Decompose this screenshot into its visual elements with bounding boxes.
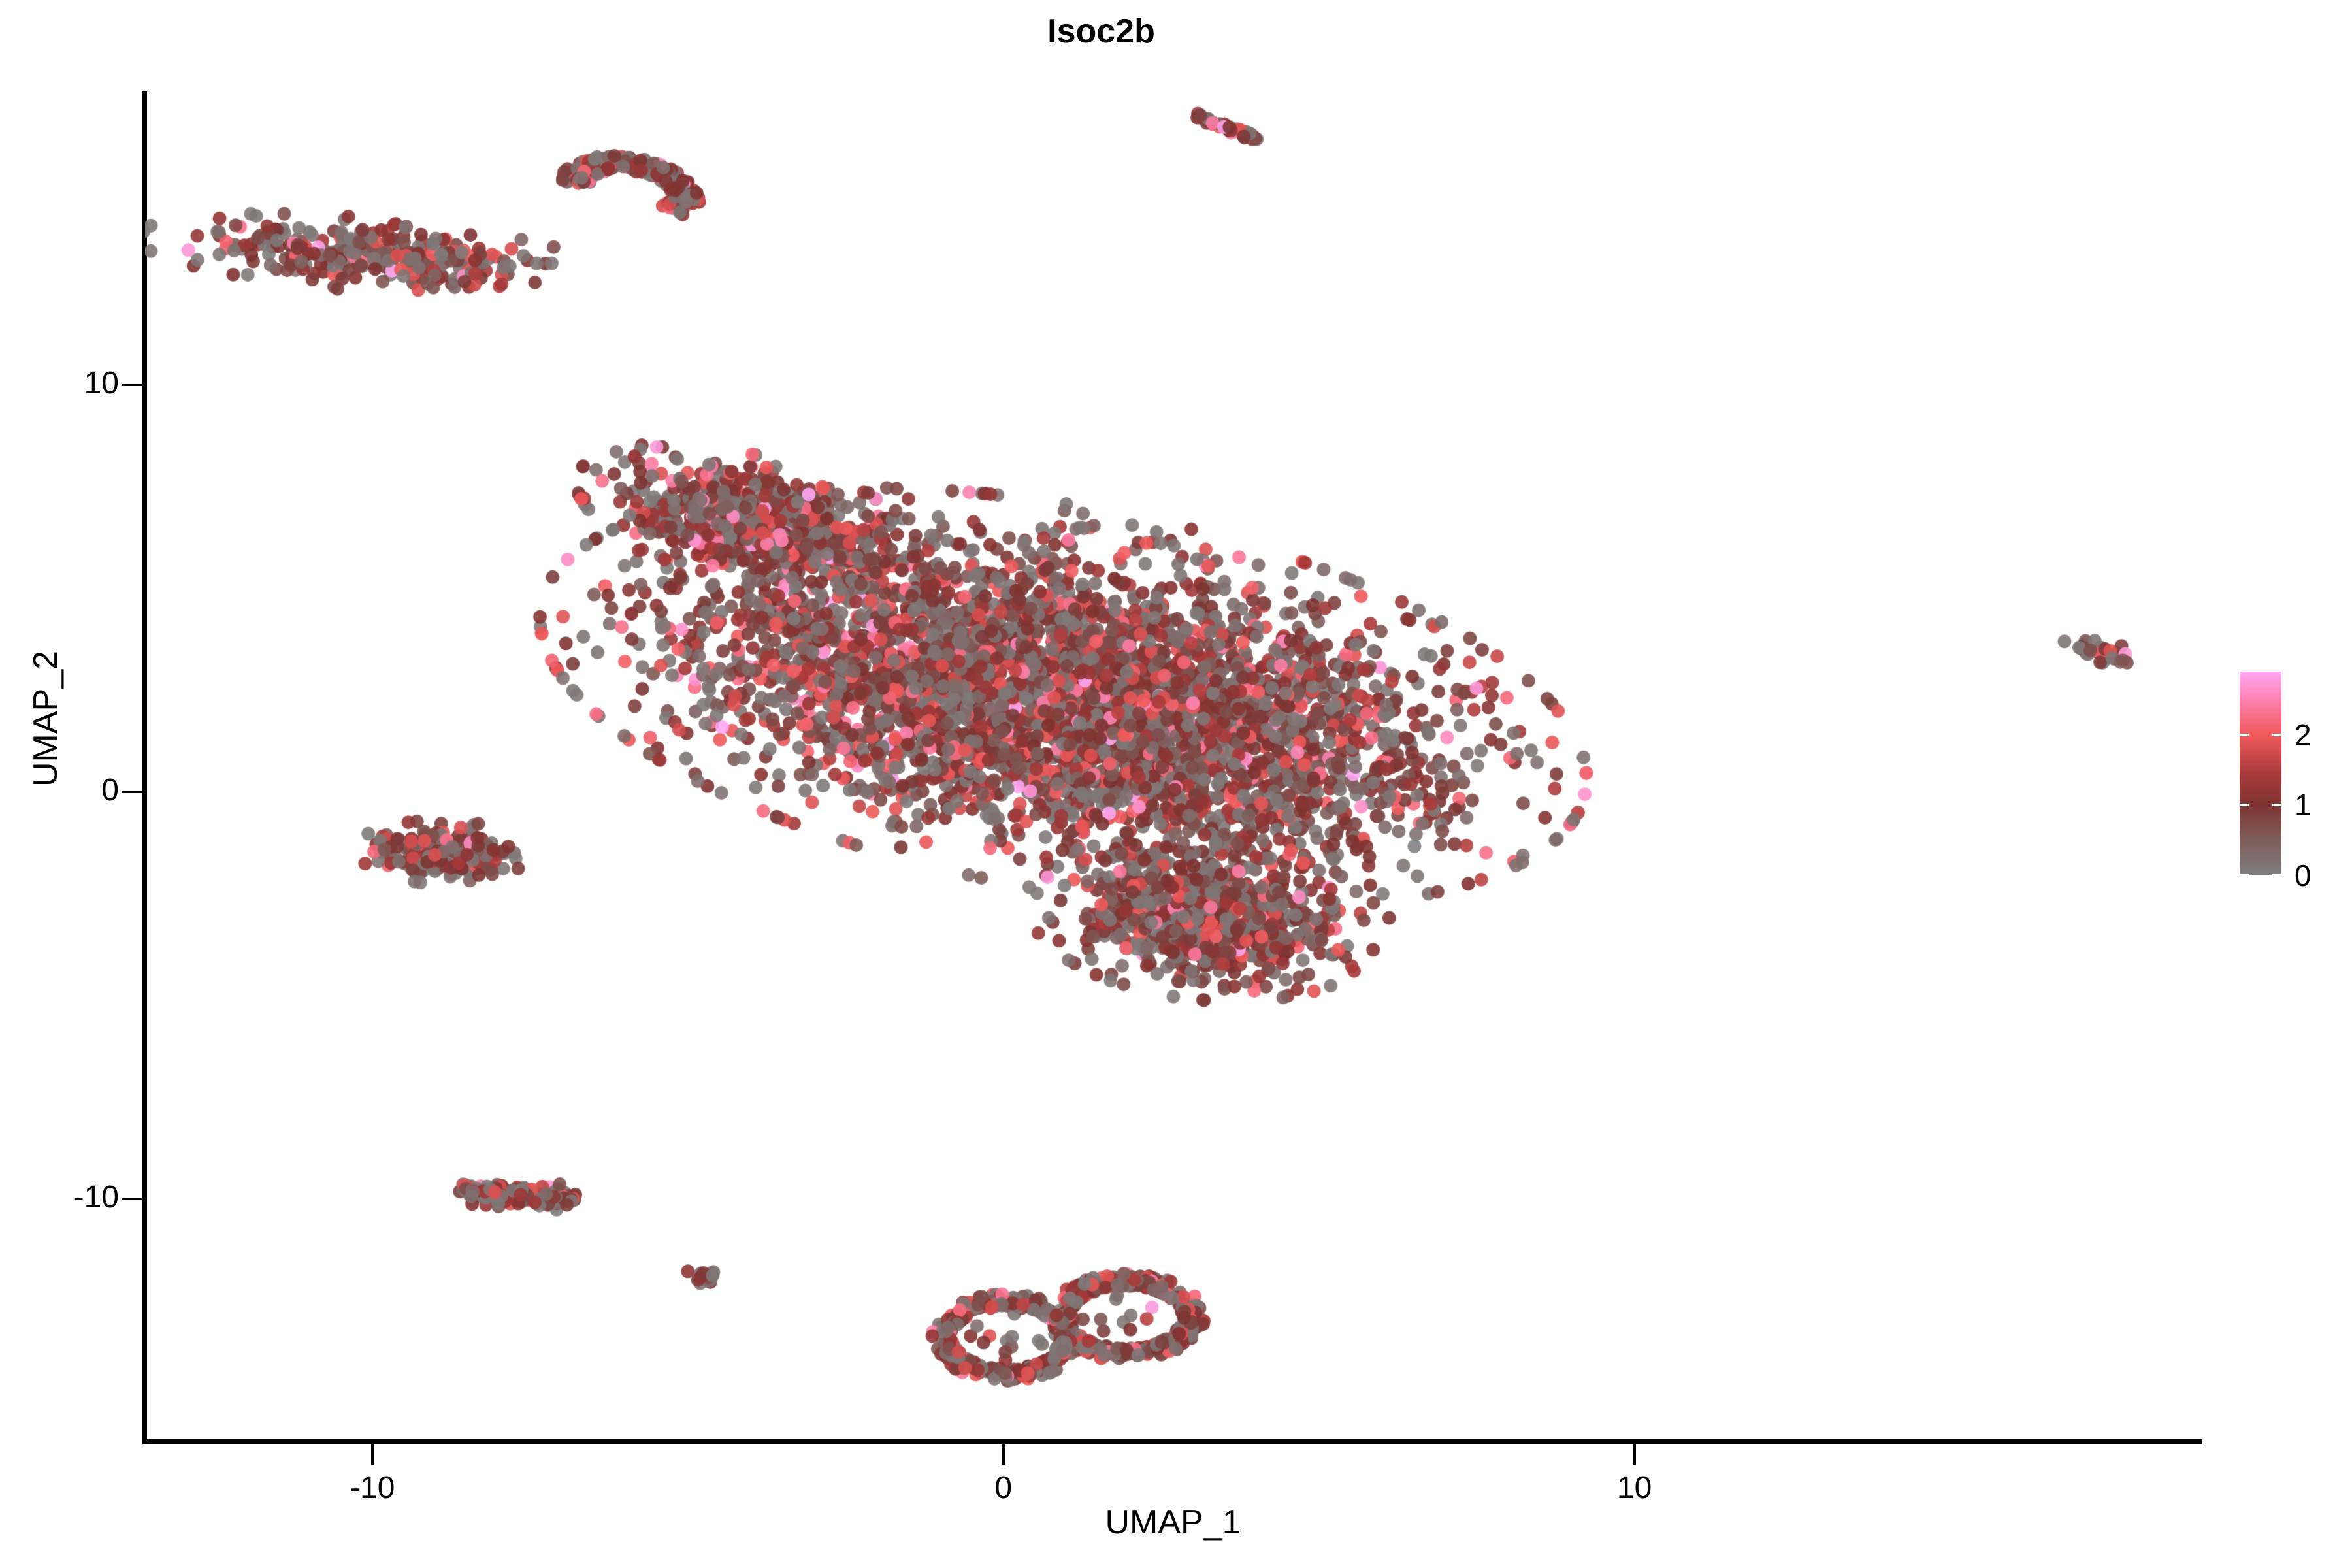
legend-tick-mark xyxy=(2240,804,2249,806)
color-legend xyxy=(2240,672,2281,875)
legend-tick-mark xyxy=(2240,874,2249,877)
x-axis-label: UMAP_1 xyxy=(144,1503,2202,1542)
x-tick-label: 0 xyxy=(994,1470,1012,1506)
y-axis-label: UMAP_2 xyxy=(26,523,65,915)
legend-tick-mark xyxy=(2272,804,2281,806)
y-tick-label: -10 xyxy=(74,1179,119,1215)
page-title: Isoc2b xyxy=(0,12,2202,51)
umap-feature-plot: Isoc2b UMAP_2 UMAP_1 -10010100-10 210 xyxy=(0,0,2352,1568)
legend-colorbar xyxy=(2240,672,2281,875)
plot-panel xyxy=(145,91,2202,1439)
x-tick--10 xyxy=(371,1444,374,1465)
legend-tick-mark xyxy=(2272,874,2281,877)
y-tick-0 xyxy=(122,791,142,793)
y-tick-label: 0 xyxy=(101,772,119,808)
scatter-points-layer xyxy=(145,91,2202,1439)
legend-label-0: 0 xyxy=(2295,858,2311,893)
x-tick-label: -10 xyxy=(350,1470,395,1506)
x-tick-0 xyxy=(1002,1444,1005,1465)
x-axis-line xyxy=(142,1439,2202,1444)
y-tick-10 xyxy=(122,384,142,386)
x-tick-10 xyxy=(1633,1444,1636,1465)
legend-label-2: 2 xyxy=(2295,717,2311,753)
y-tick-label: 10 xyxy=(84,365,119,401)
y-tick--10 xyxy=(122,1198,142,1200)
legend-label-1: 1 xyxy=(2295,787,2311,823)
x-tick-label: 10 xyxy=(1617,1470,1652,1506)
legend-tick-mark xyxy=(2272,734,2281,736)
legend-tick-mark xyxy=(2240,734,2249,736)
